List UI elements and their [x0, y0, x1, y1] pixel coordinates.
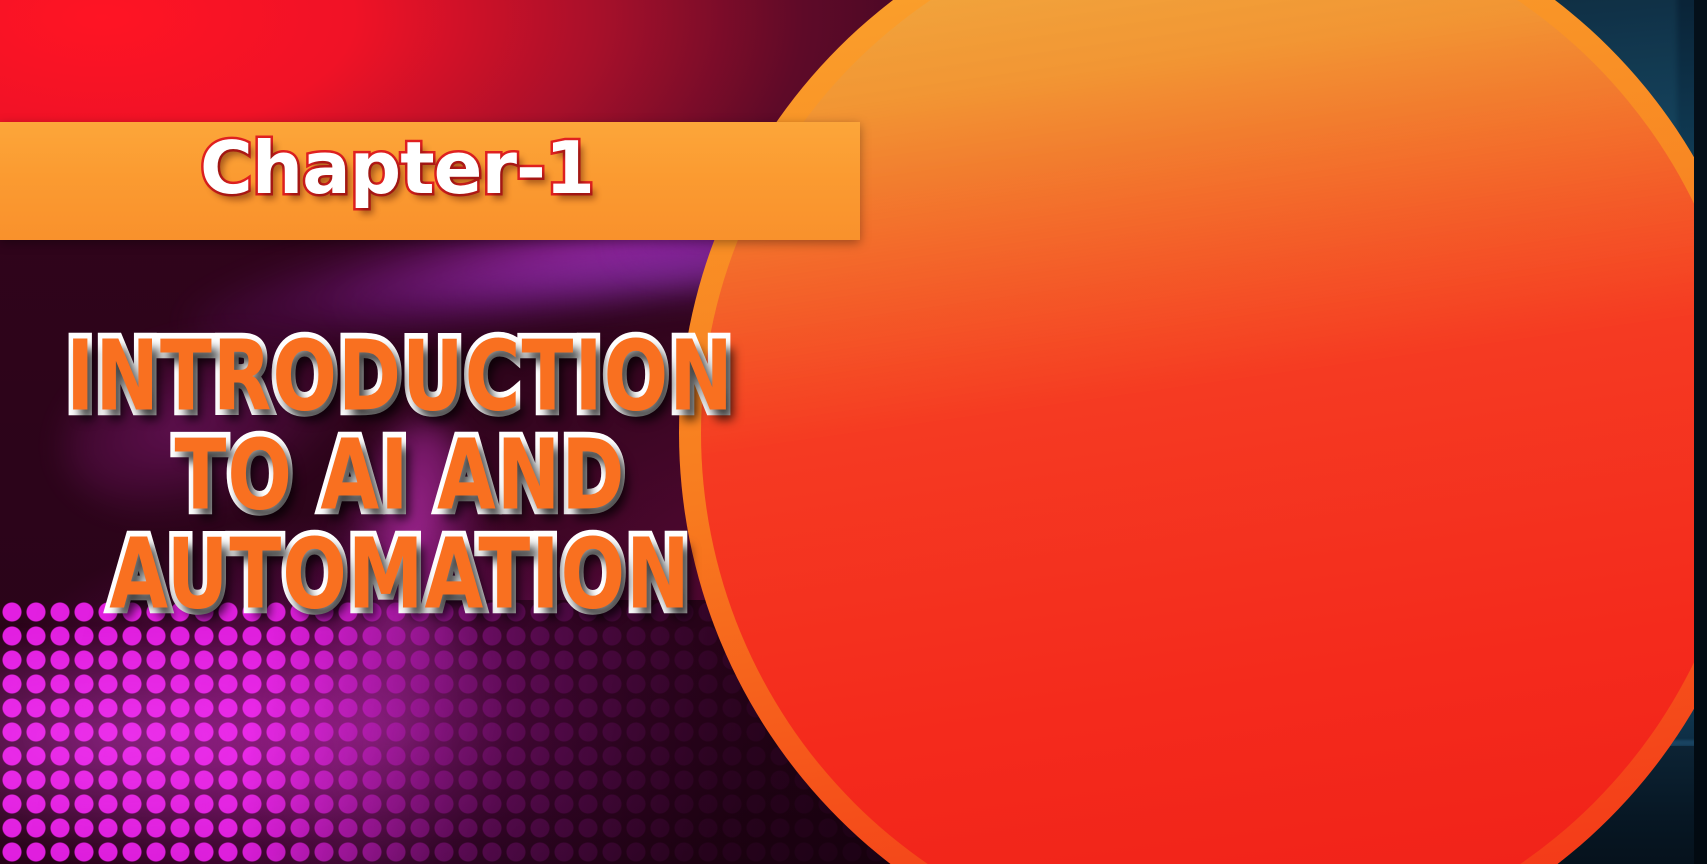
hud-line	[1397, 226, 1587, 235]
title-line-1: INTRODUCTION	[0, 330, 800, 423]
light-particle	[867, 460, 872, 465]
robot-left-hand	[862, 535, 1018, 641]
hud-line	[1337, 352, 1537, 357]
hud-line	[1337, 108, 1527, 113]
hud-line	[1517, 136, 1627, 145]
robot-finger	[1001, 544, 1122, 574]
hud-line	[1337, 188, 1497, 193]
desk-surface	[697, 746, 1707, 864]
robot-finger	[872, 603, 955, 624]
right-edge-strip	[1694, 0, 1707, 864]
robot-finger	[869, 555, 954, 576]
light-particle	[1117, 438, 1121, 442]
robot-finger	[867, 579, 962, 601]
hud-line	[1337, 258, 1567, 263]
light-particle	[987, 440, 993, 446]
hud-line	[1337, 284, 1467, 289]
robot-finger	[1009, 596, 1128, 625]
light-particle	[1057, 392, 1061, 396]
light-particle	[927, 410, 931, 414]
chapter-label: Chapter-1	[200, 126, 594, 210]
hud-line	[1357, 320, 1527, 329]
robot-finger	[1000, 569, 1133, 600]
title-line-3: AUTOMATION	[0, 528, 800, 621]
page-title: INTRODUCTION TO AI AND AUTOMATION	[0, 330, 800, 601]
hud-line	[1337, 376, 1577, 381]
robot-finger	[1020, 621, 1117, 648]
title-line-2: TO AI AND	[0, 429, 800, 522]
hud-line	[1337, 164, 1547, 169]
hud-line	[1337, 86, 1577, 91]
light-particle	[817, 500, 822, 505]
hud-line	[1337, 58, 1487, 67]
chapter-title-slide: Chapter-1 INTRODUCTION TO AI AND AUTOMAT…	[0, 0, 1707, 864]
